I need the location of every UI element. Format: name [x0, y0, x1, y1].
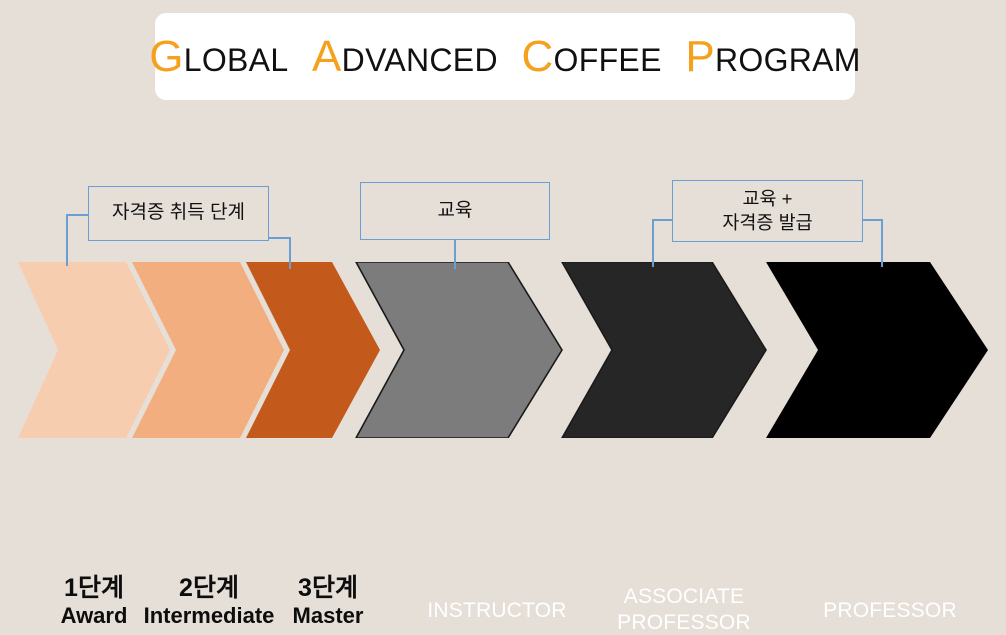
connector-education-cert-left-arm	[652, 219, 674, 221]
callout-education-and-certification: 교육 + 자격증 발급	[672, 180, 863, 242]
connector-education-cert-right-arm	[861, 219, 883, 221]
arrow-label-stage-2: 2단계 Intermediate	[135, 574, 283, 629]
arrow-shape-instructor[interactable]	[356, 262, 562, 438]
callout-education: 교육	[360, 182, 550, 240]
connector-certification-left-drop	[66, 214, 68, 266]
callout-education-cert-line-1: 교육 +	[722, 187, 812, 211]
connector-education-cert-right-drop	[881, 219, 883, 267]
program-title-card: GLOBAL ADVANCED COFFEE PROGRAM	[155, 13, 855, 100]
title-word-3: COFFEE	[521, 32, 661, 82]
progression-arrow-band: 1단계 Award 2단계 Intermediate 3단계 Master IN…	[0, 262, 1006, 438]
arrow-label-associate-professor: ASSOCIATE PROFESSOR	[578, 584, 790, 635]
arrow-label-stage-1: 1단계 Award	[34, 574, 154, 629]
arrow-shape-professor[interactable]	[766, 262, 988, 438]
connector-certification-left-arm	[66, 214, 90, 216]
callout-certification-stages: 자격증 취득 단계	[88, 186, 269, 241]
title-word-2: ADVANCED	[312, 32, 498, 82]
connector-education-cert-left-drop	[652, 219, 654, 267]
arrow-label-instructor: INSTRUCTOR	[400, 598, 594, 624]
page-title: GLOBAL ADVANCED COFFEE PROGRAM	[149, 32, 861, 82]
title-word-1: GLOBAL	[149, 32, 288, 82]
callout-education-cert-lines: 교육 + 자격증 발급	[722, 187, 812, 234]
arrow-label-professor: PROFESSOR	[790, 598, 990, 624]
connector-certification-right-arm	[267, 237, 291, 239]
arrow-shape-associate-professor[interactable]	[562, 262, 766, 438]
connector-education-drop	[454, 239, 456, 269]
connector-certification-right-drop	[289, 237, 291, 269]
callout-education-label: 교육	[438, 199, 473, 223]
title-word-4: PROGRAM	[685, 32, 860, 82]
arrow-label-stage-3: 3단계 Master	[276, 574, 380, 629]
callout-education-cert-line-2: 자격증 발급	[722, 211, 812, 235]
callout-certification-stages-label: 자격증 취득 단계	[112, 201, 245, 225]
